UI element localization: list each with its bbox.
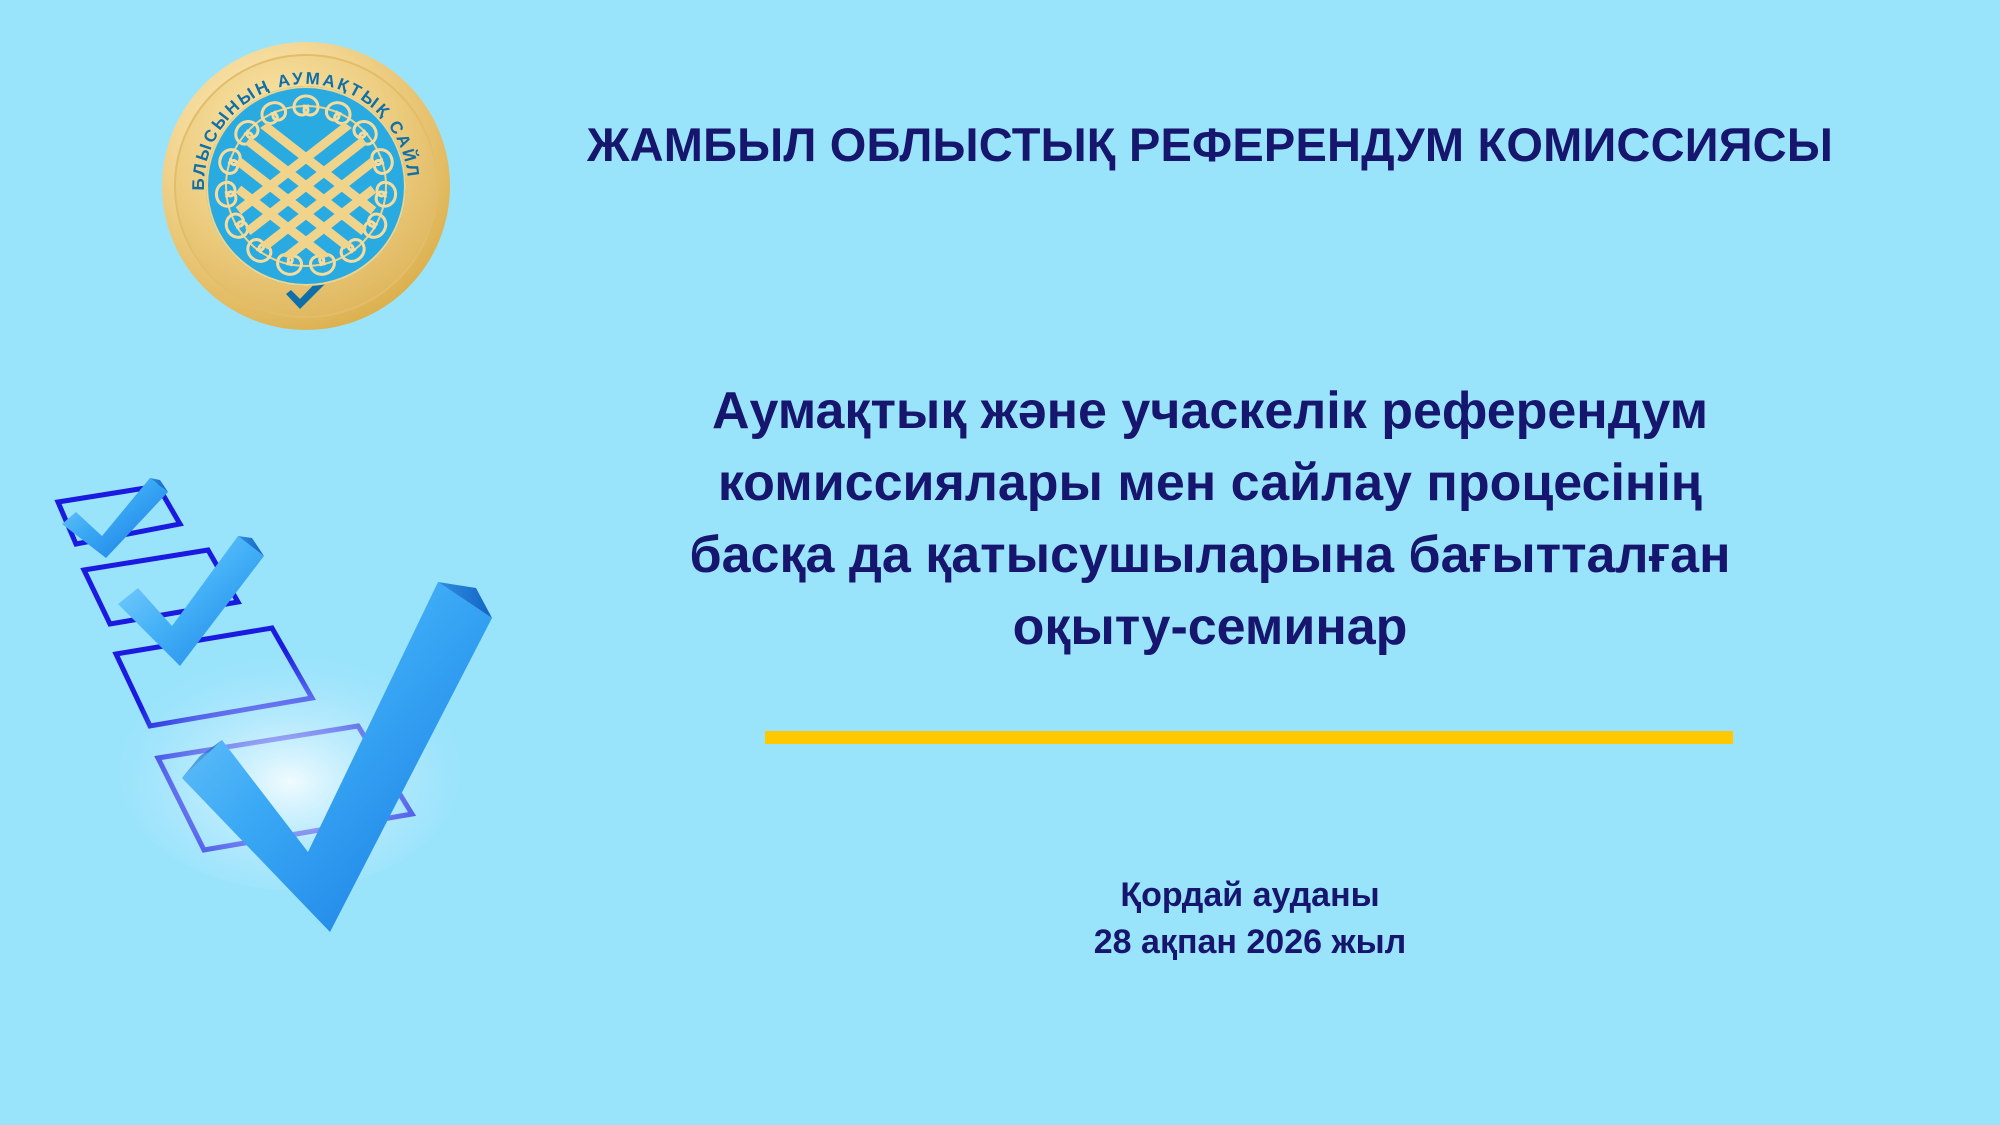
checkmark-small-2 [118,536,264,666]
seminar-title-line-4: оқыту-семинар [600,591,1820,663]
event-location: Қордай ауданы [760,872,1740,919]
page-title: ЖАМБЫЛ ОБЛЫСТЫҚ РЕФЕРЕНДУМ КОМИССИЯСЫ [500,118,1920,172]
event-meta-block: Қордай ауданы 28 ақпан 2026 жыл [760,872,1740,966]
commission-emblem: ОБЛЫСЫНЫҢ АУМАҚТЫҚ САЙЛАУ ЖАМБЫЛ КОМИССИ… [160,40,452,332]
accent-divider [765,731,1733,744]
seminar-title-line-1: Аумақтық және учаскелік референдум [600,375,1820,447]
seminar-title-line-3: басқа да қатысушыларына бағытталған [600,519,1820,591]
seminar-title-block: Аумақтық және учаскелік референдум комис… [600,375,1820,663]
ballot-checkmark-illustration [40,440,640,970]
seminar-title-line-2: комиссиялары мен сайлау процесінің [600,447,1820,519]
event-date: 28 ақпан 2026 жыл [760,919,1740,966]
slide-canvas: ОБЛЫСЫНЫҢ АУМАҚТЫҚ САЙЛАУ ЖАМБЫЛ КОМИССИ… [0,0,2000,1125]
